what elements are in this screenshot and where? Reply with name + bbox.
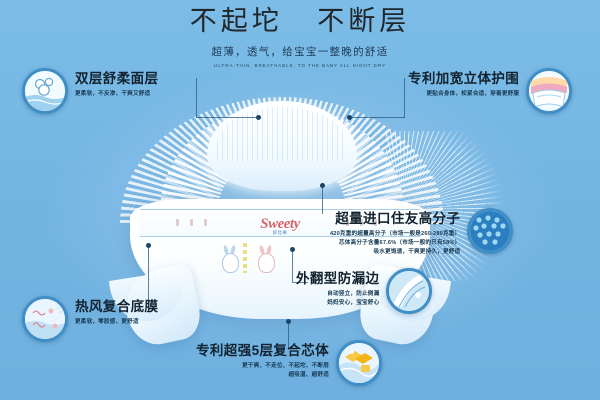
callout-polymer[interactable]: 超量进口住友高分子 420克重的超量高分子（市场一般是260-280克重） 芯体… (330, 208, 513, 257)
callout-leak-guard[interactable]: 外翻型防漏边 自动竖立，防止侧漏 妈妈安心，宝宝舒心 (296, 268, 432, 314)
squiggle-print (243, 243, 247, 273)
callout-soft-surface[interactable]: 双层舒柔面层 更柔软，不反渗，干爽又舒适 (22, 68, 158, 114)
five-layer-core-icon (336, 340, 382, 386)
callout-desc-line1: 自动竖立，防止侧漏 (296, 290, 379, 299)
callout-desc-line1: 420克重的超量高分子（市场一般是260-280克重） (330, 230, 460, 239)
page-subtitle: 超薄，透气，给宝宝一整晚的舒适 (0, 44, 600, 59)
callout-desc-line1: 更干爽、不走位、不起坨、不断层 (196, 362, 329, 371)
header: 不起坨 不断层 超薄，透气，给宝宝一整晚的舒适 ULTRA-THIN, BREA… (0, 6, 600, 68)
bunny-print-left (218, 245, 242, 275)
callout-desc-line2: 超吸湿、超舒适 (196, 371, 329, 380)
fan-core-texture (217, 107, 347, 161)
callout-title: 热风复合底膜 (75, 299, 158, 315)
soft-surface-icon (22, 68, 68, 114)
wide-guard-icon (526, 68, 572, 114)
callout-title: 专利超强5层复合芯体 (196, 343, 329, 359)
callout-desc: 更柔软，不反渗，干爽又舒适 (75, 90, 158, 99)
callout-title: 外翻型防漏边 (296, 271, 379, 287)
page-title: 不起坨 不断层 (0, 6, 600, 37)
callout-wide-guard[interactable]: 专利加宽立体护围 更贴合身体，松紧合适，穿着更舒服 (408, 68, 572, 114)
callout-breathable-film[interactable]: 热风复合底膜 更柔软，零胶感，更舒适 (22, 296, 158, 342)
product-feature-poster: 不起坨 不断层 超薄，透气，给宝宝一整晚的舒适 ULTRA-THIN, BREA… (0, 0, 600, 400)
leak-guard-icon (386, 268, 432, 314)
breathable-film-icon (22, 296, 68, 342)
callout-desc: 更柔软，零胶感，更舒适 (75, 318, 158, 327)
brand-logo-sub: 舒比奇 (273, 230, 288, 236)
callout-title: 专利加宽立体护围 (408, 71, 519, 87)
callout-five-layer-core[interactable]: 专利超强5层复合芯体 更干爽、不走位、不起坨、不断层 超吸湿、超舒适 (196, 340, 382, 386)
callout-desc-line2: 妈妈安心，宝宝舒心 (296, 299, 379, 308)
callout-desc-line2: 芯体高分子含量67.6%（市场一般的只有58%） (330, 239, 460, 248)
polymer-beads-icon (467, 208, 513, 254)
callout-title: 双层舒柔面层 (75, 71, 158, 87)
callout-title: 超量进口住友高分子 (330, 211, 460, 227)
bunny-print-right (254, 245, 278, 275)
callout-desc: 更贴合身体，松紧合适，穿着更舒服 (408, 90, 519, 99)
callout-desc-line3: 吸水更饱速，干爽更持久，更舒适 (330, 248, 460, 257)
